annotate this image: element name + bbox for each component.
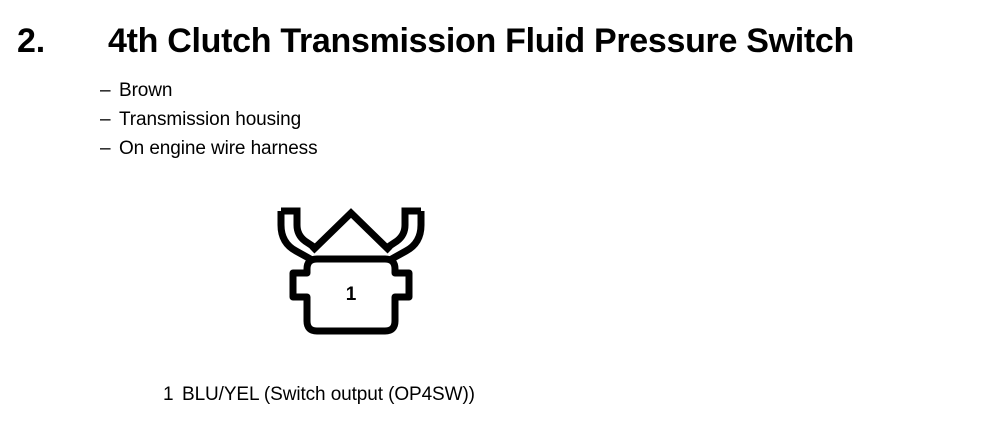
- section-heading: 2. 4th Clutch Transmission Fluid Pressur…: [0, 21, 1008, 65]
- pin-number-1: 1: [346, 284, 357, 305]
- connector-diagram: 1: [272, 203, 430, 343]
- list-item: – Transmission housing: [100, 105, 700, 134]
- list-item-label: Transmission housing: [119, 105, 301, 134]
- dash-bullet-icon: –: [100, 105, 119, 134]
- list-item: 1 BLU/YEL (Switch output (OP4SW)): [163, 382, 863, 408]
- pin-legend: 1 BLU/YEL (Switch output (OP4SW)): [163, 382, 863, 408]
- page-title: 4th Clutch Transmission Fluid Pressure S…: [108, 21, 854, 61]
- list-item: – On engine wire harness: [100, 134, 700, 163]
- document-page: 2. 4th Clutch Transmission Fluid Pressur…: [0, 0, 1008, 438]
- list-item: – Brown: [100, 76, 700, 105]
- pin-legend-number: 1: [163, 382, 182, 408]
- pin-legend-description: BLU/YEL (Switch output (OP4SW)): [182, 382, 475, 408]
- dash-bullet-icon: –: [100, 134, 119, 163]
- list-item-label: Brown: [119, 76, 172, 105]
- section-number: 2.: [17, 21, 108, 61]
- attribute-list: – Brown – Transmission housing – On engi…: [100, 76, 700, 163]
- connector-outline-svg: 1: [272, 203, 430, 343]
- dash-bullet-icon: –: [100, 76, 119, 105]
- connector-top-ridge-icon: [312, 213, 390, 251]
- list-item-label: On engine wire harness: [119, 134, 317, 163]
